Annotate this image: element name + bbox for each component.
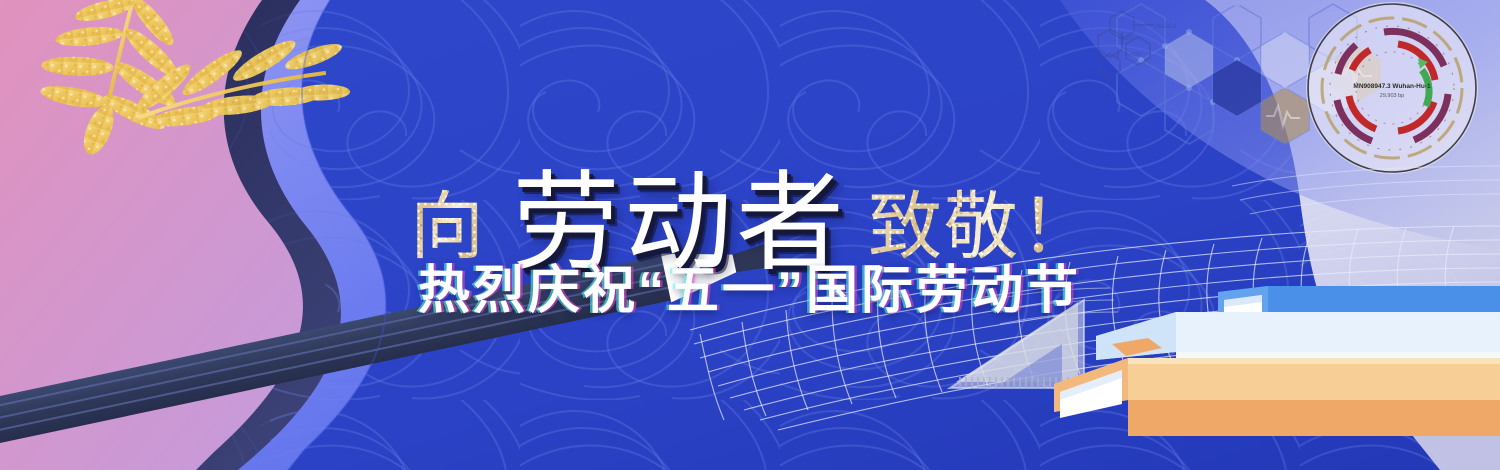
- svg-text:H2O: H2O: [1122, 36, 1134, 42]
- circular-genome-map: MN908947.3 Wuhan-Hu-1 29,903 bp: [1306, 2, 1478, 174]
- background-artwork: Na2Co H2O FeCl3 CuO: [0, 0, 1500, 470]
- svg-text:FeCl3: FeCl3: [1126, 52, 1141, 58]
- labor-day-banner: Na2Co H2O FeCl3 CuO: [0, 0, 1500, 470]
- genome-caption: MN908947.3 Wuhan-Hu-1: [1353, 83, 1431, 90]
- svg-text:CuO: CuO: [1098, 70, 1110, 76]
- svg-text:Na2Co: Na2Co: [1156, 23, 1177, 30]
- genome-subcaption: 29,903 bp: [1380, 93, 1404, 99]
